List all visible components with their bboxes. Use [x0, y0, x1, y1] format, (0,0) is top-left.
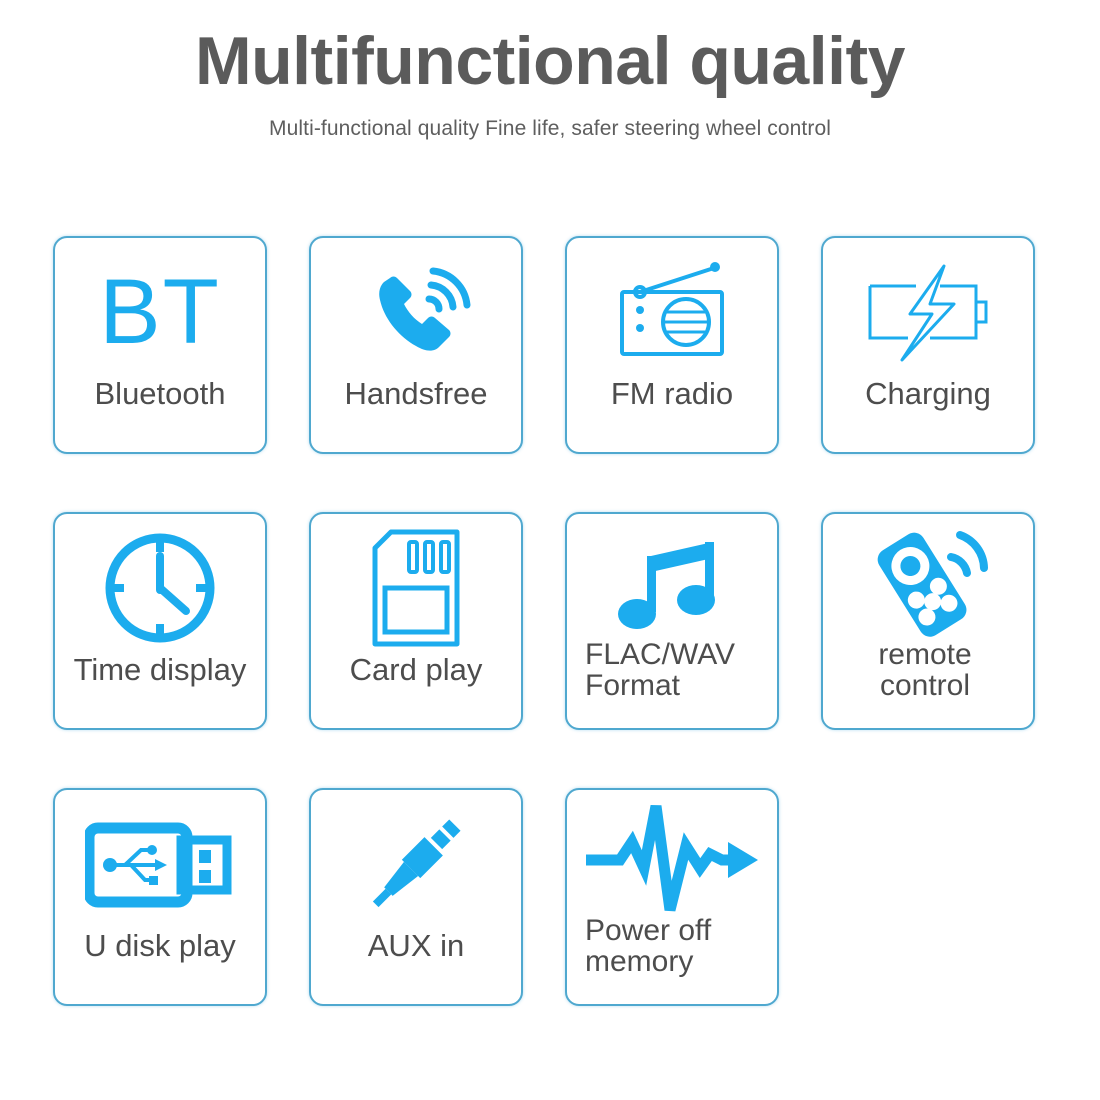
feature-card-aux-in[interactable]: AUX in: [309, 788, 523, 1006]
feature-card-power-off-memory[interactable]: Power off memory: [565, 788, 779, 1006]
feature-label-power-off-memory-line1: Power off: [585, 916, 771, 947]
feature-label-aux-in: AUX in: [311, 930, 521, 962]
feature-label-power-off-memory-line2: memory: [585, 947, 771, 978]
phone-call-icon: [311, 238, 521, 378]
page-header: Multifunctional quality Multi-functional…: [0, 0, 1100, 141]
audio-jack-icon: [311, 790, 521, 930]
remote-control-icon: [823, 514, 1033, 640]
pulse-wave-icon: [567, 790, 777, 916]
feature-label-bluetooth: Bluetooth: [55, 378, 265, 410]
feature-label-remote-control: remote control: [823, 640, 1033, 701]
page-subtitle: Multi-functional quality Fine life, safe…: [0, 117, 1100, 141]
feature-label-remote-control-line1: remote: [823, 640, 1027, 671]
feature-card-charging[interactable]: Charging: [821, 236, 1035, 454]
usb-drive-icon: [55, 790, 265, 930]
feature-card-bluetooth[interactable]: BT Bluetooth: [53, 236, 267, 454]
feature-card-time-display[interactable]: Time display: [53, 512, 267, 730]
feature-label-flac-wav-line1: FLAC/WAV: [585, 640, 771, 671]
feature-label-flac-wav: FLAC/WAV Format: [567, 640, 777, 701]
feature-label-power-off-memory: Power off memory: [567, 916, 777, 977]
feature-row-1: BT Bluetooth Handsfree: [53, 236, 1047, 454]
feature-card-remote-control[interactable]: remote control: [821, 512, 1035, 730]
feature-card-flac-wav[interactable]: FLAC/WAV Format: [565, 512, 779, 730]
features-grid: BT Bluetooth Handsfree: [53, 236, 1047, 1006]
feature-row-3: U disk play AUX in: [53, 788, 1047, 1006]
feature-label-charging: Charging: [823, 378, 1033, 410]
feature-label-time-display: Time display: [55, 654, 265, 686]
feature-label-fm-radio: FM radio: [567, 378, 777, 410]
page-title: Multifunctional quality: [0, 26, 1100, 97]
feature-row-2: Time display Card play: [53, 512, 1047, 730]
radio-icon: [567, 238, 777, 378]
feature-card-fm-radio[interactable]: FM radio: [565, 236, 779, 454]
feature-label-flac-wav-line2: Format: [585, 671, 771, 702]
battery-bolt-icon: [823, 238, 1033, 378]
feature-label-remote-control-line2: control: [823, 671, 1027, 702]
feature-card-card-play[interactable]: Card play: [309, 512, 523, 730]
sd-card-icon: [311, 514, 521, 654]
feature-card-handsfree[interactable]: Handsfree: [309, 236, 523, 454]
feature-label-u-disk-play: U disk play: [55, 930, 265, 962]
feature-label-card-play: Card play: [311, 654, 521, 686]
music-note-icon: [567, 514, 777, 640]
bt-text-icon: BT: [55, 238, 265, 378]
clock-icon: [55, 514, 265, 654]
feature-grid-page: Multifunctional quality Multi-functional…: [0, 0, 1100, 1100]
feature-card-u-disk-play[interactable]: U disk play: [53, 788, 267, 1006]
bt-icon-label: BT: [99, 266, 221, 358]
feature-label-handsfree: Handsfree: [311, 378, 521, 410]
